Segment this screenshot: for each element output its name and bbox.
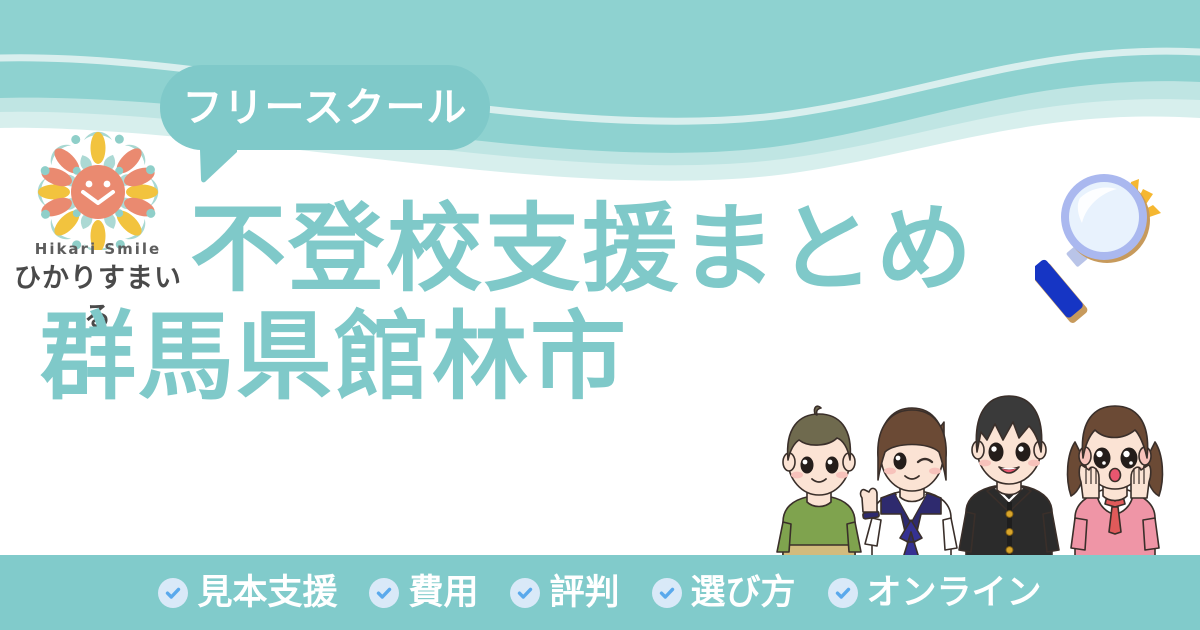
category-label: フリースクール [183,88,468,128]
check-circle-icon [828,578,858,608]
check-circle-icon [158,578,188,608]
page-title-line-1: 不登校支援まとめ [190,196,1065,304]
tag-item[interactable]: 評判 [510,575,619,610]
four-students-illustration [745,362,1200,558]
figure-boy-green-shirt [777,406,861,558]
category-speech-bubble: フリースクール [160,65,490,150]
tag-bar: 見本支援 費用 評判 選び方 [0,555,1200,630]
speech-bubble-tail [193,146,237,184]
tag-item[interactable]: 費用 [369,575,478,610]
tag-label: 費用 [408,575,478,610]
tag-item[interactable]: 選び方 [652,575,796,610]
check-circle-icon [652,578,682,608]
check-circle-icon [510,578,540,608]
tag-item[interactable]: 見本支援 [158,575,337,610]
figure-girl-pink-dress [1068,406,1163,558]
figure-girl-sailor-uniform [861,408,957,558]
tag-label: 見本支援 [197,575,337,610]
magnifying-glass-icon [1035,165,1185,335]
tag-label: オンライン [867,575,1042,610]
tag-label: 評判 [549,575,619,610]
check-circle-icon [369,578,399,608]
figure-boy-gakuran [959,396,1059,558]
tag-label: 選び方 [691,575,796,610]
banner-root: Hikari Smile ひかりすまいる フリースクール 不登校支援まとめ 群馬… [0,0,1200,630]
tag-item[interactable]: オンライン [828,575,1042,610]
